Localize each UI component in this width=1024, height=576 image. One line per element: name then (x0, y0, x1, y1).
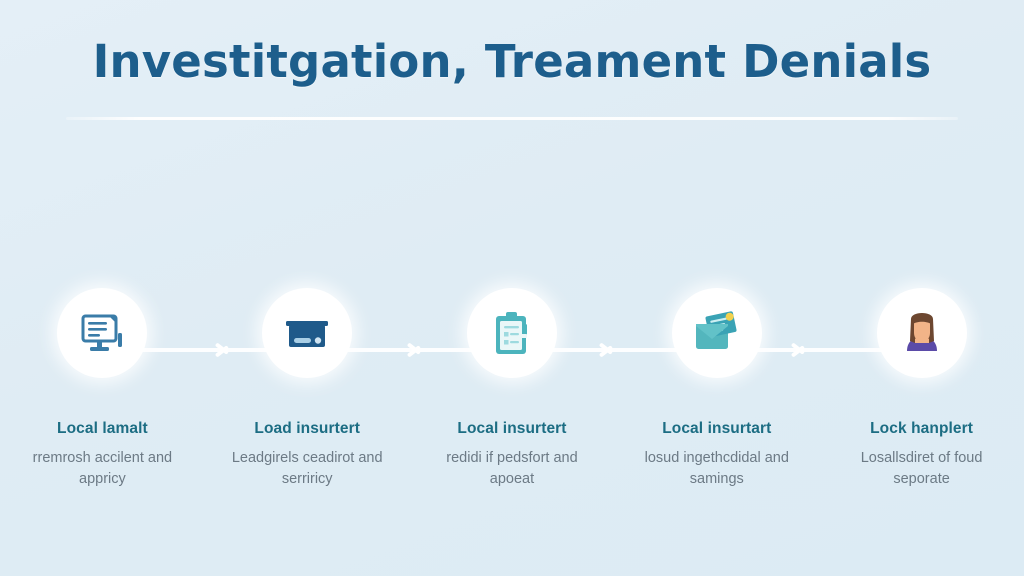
title-block: Investitgation, Treament Denials (0, 38, 1024, 85)
clipboard-checklist-icon (486, 307, 538, 359)
flow-step-4-body: losud ingethcdidal and samings (631, 448, 803, 489)
flow-step-1-body: rremrosh accilent and appricy (16, 448, 188, 489)
page-title: Investitgation, Treament Denials (0, 38, 1024, 85)
title-divider (66, 117, 958, 120)
flow-step-2-heading: Load insurtert (254, 420, 360, 438)
slide-canvas: Investitgation, Treament Denials (0, 0, 1024, 576)
flow-step-4-icon-circle (672, 288, 762, 378)
flow-steps: Local lamalt rremrosh accilent and appri… (0, 288, 1024, 489)
flow-step-4[interactable]: Local insurtart losud ingethcdidal and s… (614, 288, 819, 489)
flow-step-1-icon-circle (57, 288, 147, 378)
flow-step-1[interactable]: Local lamalt rremrosh accilent and appri… (0, 288, 205, 489)
flow-step-5-body: Losallsdiret of foud seporate (836, 448, 1008, 489)
flow-step-5-heading: Lock hanplert (870, 420, 973, 438)
person-avatar-icon (896, 307, 948, 359)
envelope-letter-icon (690, 307, 744, 359)
flow-step-3[interactable]: Local insurtert redidi if pedsfort and a… (410, 288, 615, 489)
monitor-document-icon (76, 307, 128, 359)
flow-step-2-icon-circle (262, 288, 352, 378)
flow-step-3-heading: Local insurtert (457, 420, 566, 438)
flow-step-3-body: redidi if pedsfort and apoeat (426, 448, 598, 489)
flow-step-2-body: Leadgirels ceadirot and serriricy (221, 448, 393, 489)
flow-step-1-heading: Local lamalt (57, 420, 148, 438)
process-flow: Local lamalt rremrosh accilent and appri… (0, 288, 1024, 518)
storage-box-icon (281, 307, 333, 359)
flow-step-3-icon-circle (467, 288, 557, 378)
flow-step-2[interactable]: Load insurtert Leadgirels ceadirot and s… (205, 288, 410, 489)
flow-step-5-icon-circle (877, 288, 967, 378)
flow-step-4-heading: Local insurtart (662, 420, 771, 438)
flow-step-5[interactable]: Lock hanplert Losallsdiret of foud sepor… (819, 288, 1024, 489)
